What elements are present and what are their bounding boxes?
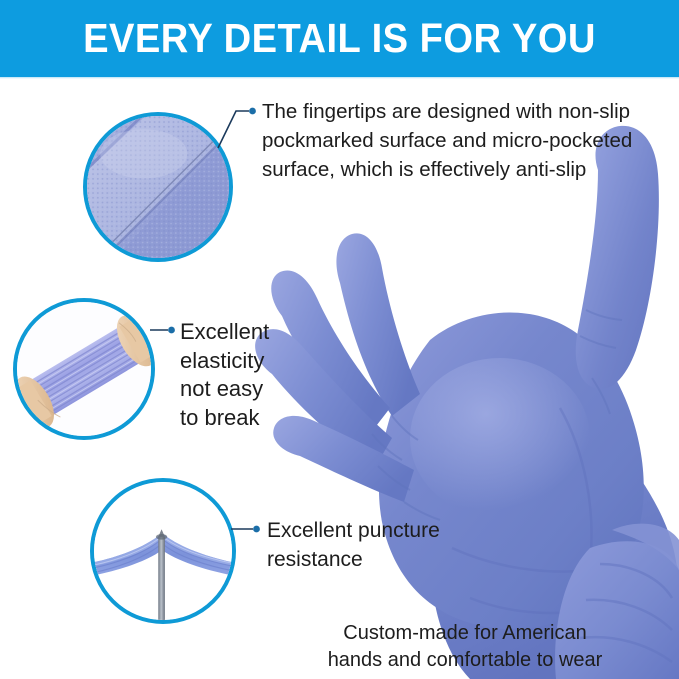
header-banner: EVERY DETAIL IS FOR YOU (0, 0, 679, 77)
callout-line: not easy (180, 375, 310, 404)
footer-caption: Custom-made for American hands and comfo… (300, 620, 630, 674)
footer-line: Custom-made for American (300, 620, 630, 647)
callout-text-puncture: Excellent puncture resistance (267, 516, 527, 574)
callout-line: surface, which is effectively anti-slip (262, 155, 662, 184)
infographic-canvas: EVERY DETAIL IS FOR YOU (0, 0, 679, 679)
callout-image-puncture-test (90, 478, 236, 624)
callout-line: resistance (267, 545, 527, 574)
callout-line: pockmarked surface and micro-pocketed (262, 126, 662, 155)
page-title: EVERY DETAIL IS FOR YOU (24, 0, 655, 77)
footer-line: hands and comfortable to wear (300, 647, 630, 674)
callout-line: The fingertips are designed with non-sli… (262, 97, 662, 126)
callout-image-elasticity-test (13, 298, 155, 440)
callout-image-fingertip-texture (83, 112, 233, 262)
callout-text-fingertip: The fingertips are designed with non-sli… (262, 97, 662, 184)
callout-line: to break (180, 404, 310, 433)
callout-text-elasticity: Excellent elasticity not easy to break (180, 318, 310, 432)
callout-line: elasticity (180, 347, 310, 376)
callout-line: Excellent puncture (267, 516, 527, 545)
banner-bottom-edge (0, 77, 679, 79)
callout-line: Excellent (180, 318, 310, 347)
